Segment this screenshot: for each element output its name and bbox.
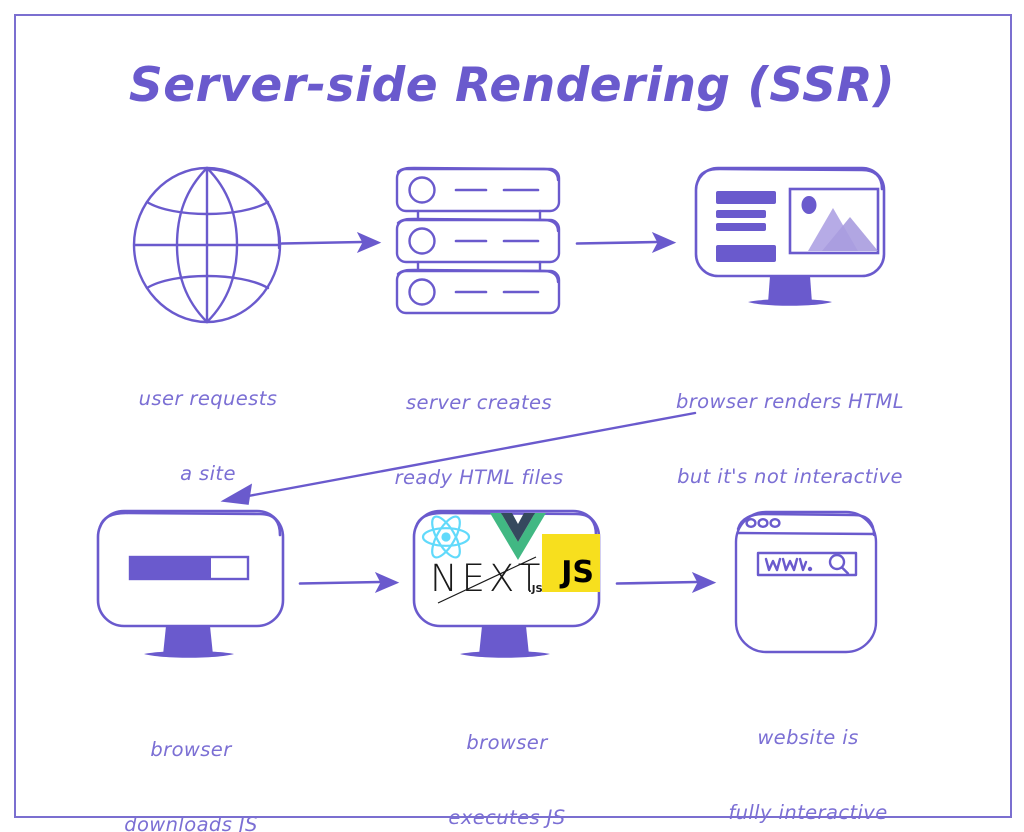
arrow-5: [615, 568, 719, 598]
arrow-2: [575, 228, 679, 258]
step-server-render: server creates ready HTML files: [392, 165, 567, 320]
caption-fully-interactive: website is fully interactive: [690, 675, 926, 832]
arrow-4: [298, 568, 402, 598]
step-fully-interactive: website is fully interactive: [728, 505, 888, 665]
step-user-request: user requests a site: [125, 160, 290, 330]
caption-browser-executes-js: browser executes JS: [398, 680, 616, 832]
page-title: Server-side Rendering (SSR): [0, 58, 1024, 113]
monitor-page-icon: [690, 163, 890, 315]
step-browser-executes-js: JS NEXT .JS browser executes JS: [408, 505, 608, 670]
arrow-3: [215, 405, 705, 515]
nextjs-logo-icon: NEXT .JS: [430, 557, 550, 603]
globe-icon: [125, 160, 290, 330]
caption-browser-downloads-js: browser downloads JS: [82, 687, 300, 832]
step-browser-renders-html: browser renders HTML but it's not intera…: [690, 163, 890, 315]
step-browser-downloads-js: browser downloads JS: [92, 505, 292, 670]
arrow-1: [280, 228, 384, 258]
diagram-canvas: Server-side Rendering (SSR) user request…: [0, 0, 1024, 832]
server-rack-icon: [392, 165, 567, 320]
browser-window-icon: [728, 505, 888, 665]
monitor-progress-icon: [92, 505, 292, 670]
